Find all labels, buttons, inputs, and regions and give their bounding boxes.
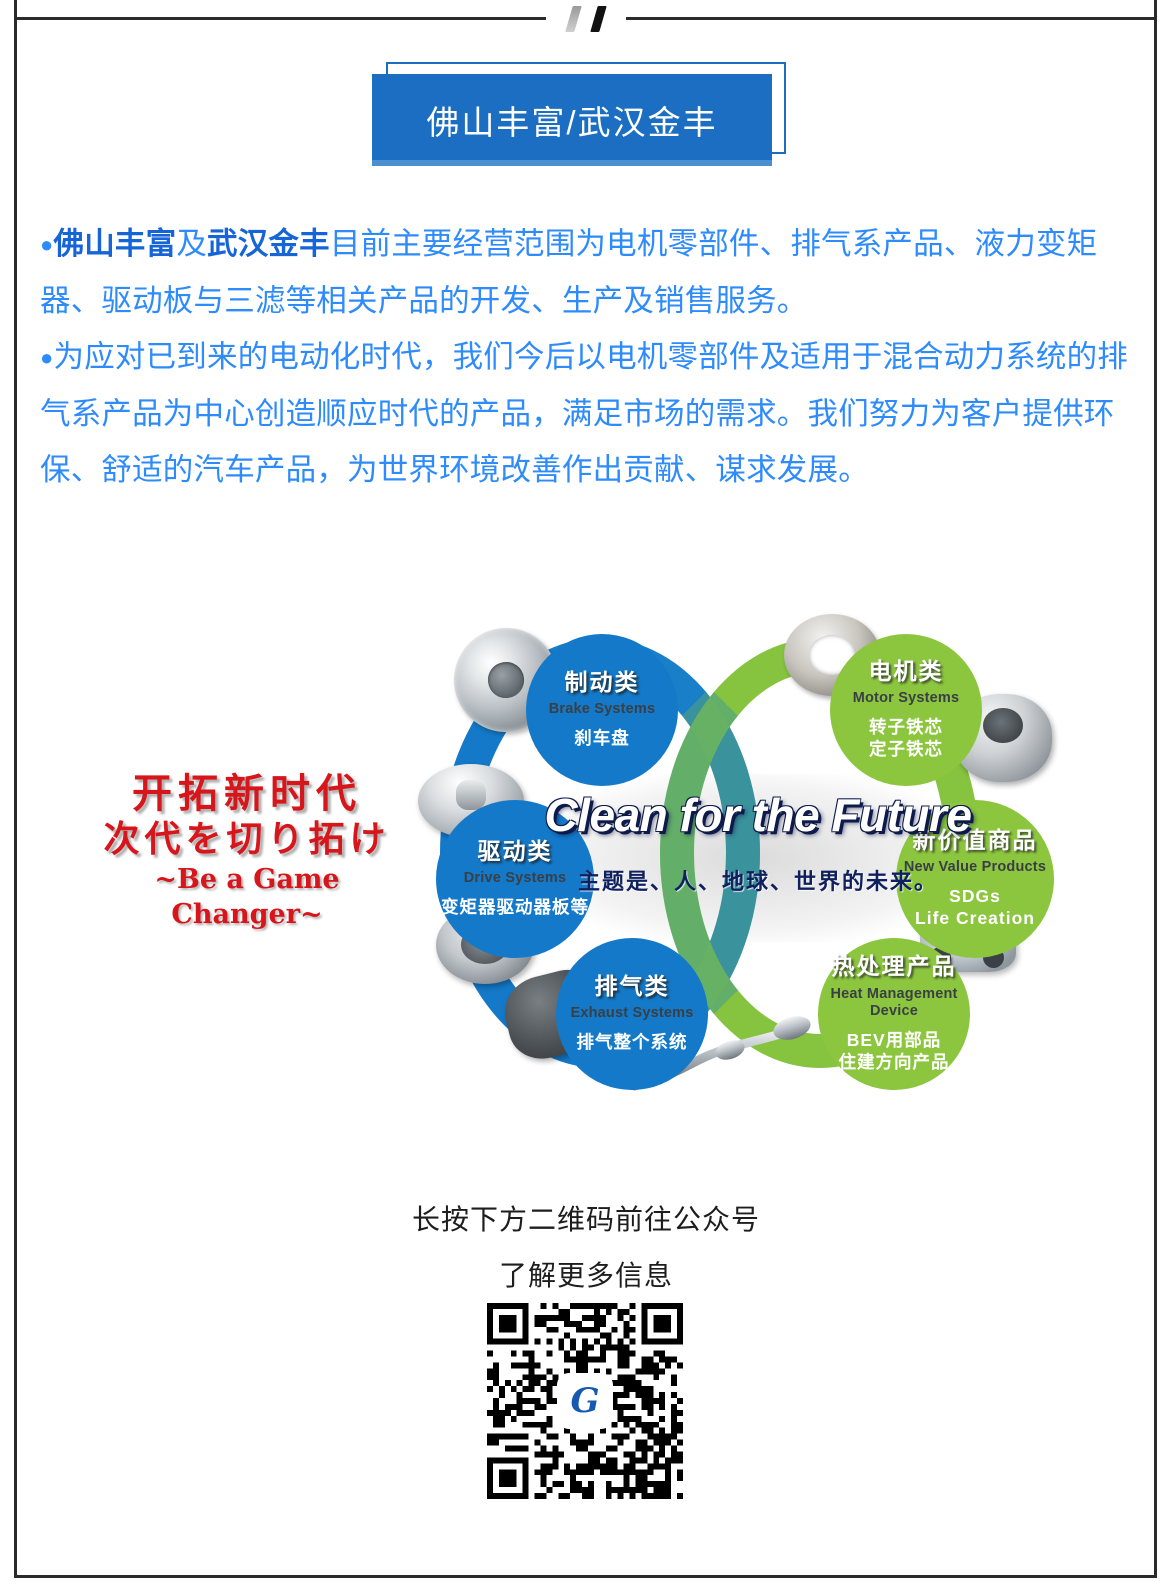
intro-strong-foshan: 佛山丰富 <box>54 227 177 261</box>
bubble-motor-subtitle: Motor Systems <box>853 690 960 707</box>
slogan-line-jp: 次代を切り拓け <box>82 817 412 862</box>
slash-mark-gray-icon <box>565 6 581 32</box>
bubble-heat-title: 热处理产品 <box>832 954 957 979</box>
bubble-brake-systems[interactable]: 制动类 Brake Systems 刹车盘 <box>526 634 678 786</box>
product-wheel-diagram: 制动类 Brake Systems 刹车盘 电机类 Motor Systems … <box>418 606 1128 1106</box>
bubble-heat-detail-line-2: 住建方向产品 <box>839 1052 950 1074</box>
bubble-exhaust-subtitle: Exhaust Systems <box>570 1005 693 1022</box>
slogan-block: 开拓新时代 次代を切り拓け ~Be a Game Changer~ <box>82 772 412 932</box>
slash-mark-black-icon <box>590 6 606 32</box>
bubble-heat-subtitle: Heat Management Device <box>830 986 957 1020</box>
bubble-exhaust-detail: 排气整个系统 <box>577 1032 688 1054</box>
slogan-line-en: ~Be a Game Changer~ <box>82 862 412 932</box>
page-title: 佛山丰富/武汉金丰 <box>372 74 772 166</box>
bubble-brake-title: 制动类 <box>565 670 640 695</box>
bubble-value-detail-line-2: Life Creation <box>915 908 1035 930</box>
intro-paragraph-2: ●为应对已到来的电动化时代，我们今后以电机零部件及适用于混合动力系统的排气系产品… <box>40 329 1130 498</box>
top-divider <box>0 0 1172 36</box>
bubble-heat-subtitle-line-1: Heat Management <box>830 986 957 1003</box>
center-slogan-chinese: 主题是、人、地球、世界的未来。 <box>478 864 1038 896</box>
footer-instructions: 长按下方二维码前往公众号 了解更多信息 <box>0 1192 1172 1304</box>
bubble-drive-detail: 变矩器驱动器板等 <box>441 897 589 919</box>
bubble-exhaust-systems[interactable]: 排气类 Exhaust Systems 排气整个系统 <box>556 938 708 1090</box>
footer-line-1: 长按下方二维码前往公众号 <box>0 1192 1172 1248</box>
qr-center-logo: G <box>559 1375 611 1427</box>
bubble-motor-title: 电机类 <box>869 659 944 684</box>
divider-rule-left <box>14 17 546 20</box>
bubble-exhaust-title: 排气类 <box>595 974 670 999</box>
intro-paragraph-2-body: 为应对已到来的电动化时代，我们今后以电机零部件及适用于混合动力系统的排气系产品为… <box>40 340 1128 487</box>
slogan-line-cn: 开拓新时代 <box>82 772 412 817</box>
intro-strong-wuhan: 武汉金丰 <box>207 227 330 261</box>
bullet-icon: ● <box>40 232 54 257</box>
title-banner: 佛山丰富/武汉金丰 <box>372 62 788 170</box>
divider-rule-right <box>626 17 1157 20</box>
footer-line-2: 了解更多信息 <box>0 1248 1172 1304</box>
intro-conjunction: 及 <box>176 227 207 261</box>
center-slogan-english: Clean for the Future <box>478 788 1038 842</box>
intro-text-block: ●佛山丰富及武汉金丰目前主要经营范围为电机零部件、排气系产品、液力变矩器、驱动板… <box>40 216 1130 498</box>
bubble-motor-detail-line-1: 转子铁芯 <box>869 717 943 739</box>
bubble-brake-subtitle: Brake Systems <box>549 701 656 718</box>
qr-code[interactable]: G <box>487 1303 683 1499</box>
bubble-brake-detail: 刹车盘 <box>574 728 630 750</box>
bubble-motor-detail-line-2: 定子铁芯 <box>869 739 943 761</box>
bubble-heat-management[interactable]: 热处理产品 Heat Management Device BEV用部品 住建方向… <box>818 938 970 1090</box>
bubble-heat-detail-line-1: BEV用部品 <box>839 1030 950 1052</box>
intro-paragraph-1: ●佛山丰富及武汉金丰目前主要经营范围为电机零部件、排气系产品、液力变矩器、驱动板… <box>40 216 1130 329</box>
bubble-heat-detail: BEV用部品 住建方向产品 <box>839 1030 950 1074</box>
qr-logo-glyph: G <box>570 1384 599 1418</box>
bubble-heat-subtitle-line-2: Device <box>830 1003 957 1020</box>
diagram-center-slogan: Clean for the Future 主题是、人、地球、世界的未来。 <box>478 788 1038 896</box>
bubble-motor-systems[interactable]: 电机类 Motor Systems 转子铁芯 定子铁芯 <box>830 634 982 786</box>
bullet-icon: ● <box>40 345 54 370</box>
bubble-motor-detail: 转子铁芯 定子铁芯 <box>869 717 943 761</box>
